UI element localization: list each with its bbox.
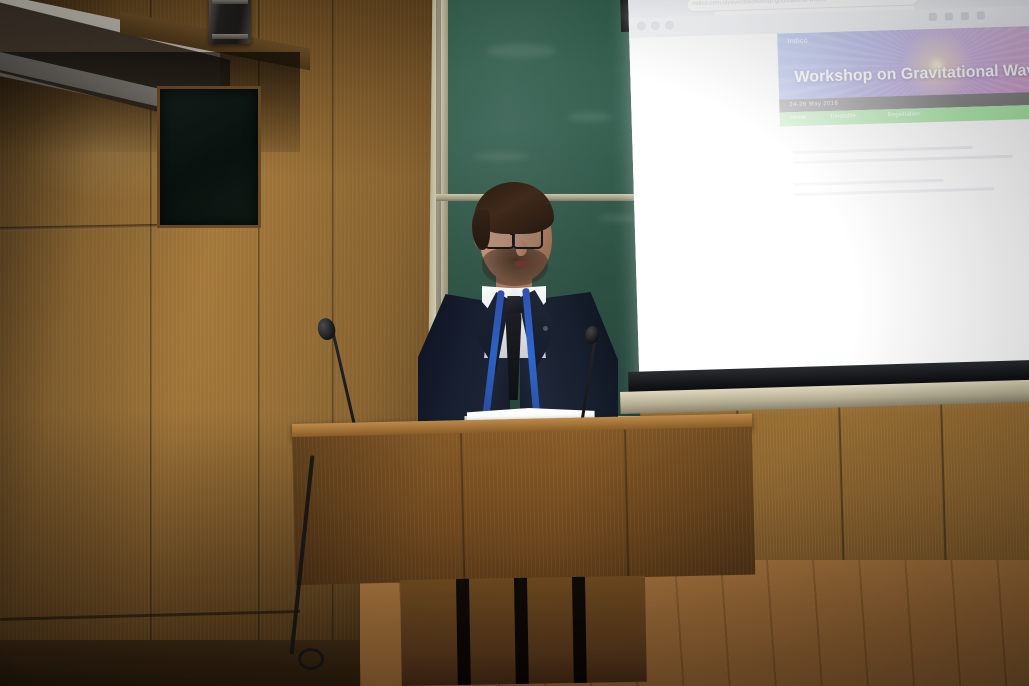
lectern-base	[400, 576, 647, 686]
page-text-line	[794, 187, 994, 196]
site-logo[interactable]: Indico	[787, 38, 808, 46]
site-hero-banner: Indico Workshop on Gravitational Waves	[777, 26, 1029, 100]
site-date-text: 24-26 May 2018	[789, 101, 838, 108]
loudspeaker-icon	[209, 0, 251, 44]
hair-sideburn	[472, 210, 490, 250]
recessed-wall-panel	[157, 86, 261, 228]
page-text-line	[793, 146, 973, 154]
profile-icon[interactable]	[961, 12, 969, 20]
page-left-column	[629, 34, 787, 384]
extension-icon[interactable]	[945, 12, 953, 20]
lectern-base-slot	[456, 579, 471, 685]
beard	[482, 248, 548, 286]
address-bar-value: indico.cern.ch/event/workshop-gravitatio…	[692, 0, 907, 7]
star-icon[interactable]	[929, 13, 937, 21]
site-hero-title: Workshop on Gravitational Waves	[794, 61, 1029, 87]
lower-wall-shadow	[0, 640, 420, 686]
lectern-front-panel	[292, 427, 755, 585]
browser-viewport: Indico Workshop on Gravitational Waves 2…	[629, 26, 1029, 384]
page-text-line	[794, 179, 944, 186]
lapel-pin	[543, 326, 548, 331]
microphone-cable-loop	[298, 648, 324, 670]
lectern-base-slot	[572, 577, 587, 683]
mouth	[514, 261, 529, 267]
chalk-smudge	[486, 44, 556, 58]
site-nav-item-home[interactable]: Home	[790, 115, 806, 121]
lectern-grain-texture	[292, 427, 755, 585]
lecture-hall-photo: Workshop on Gravitational Waves indico.c…	[0, 0, 1029, 686]
chalk-smudge	[568, 112, 612, 122]
site-nav-item-timetable[interactable]: Timetable	[830, 113, 856, 120]
page-text-line	[793, 155, 1013, 165]
site-nav-item-registration[interactable]: Registration	[888, 111, 920, 118]
chalk-smudge	[474, 152, 530, 161]
menu-icon[interactable]	[977, 11, 985, 19]
projection-screen[interactable]: Workshop on Gravitational Waves indico.c…	[628, 0, 1029, 400]
lectern-base-slot	[514, 578, 529, 684]
